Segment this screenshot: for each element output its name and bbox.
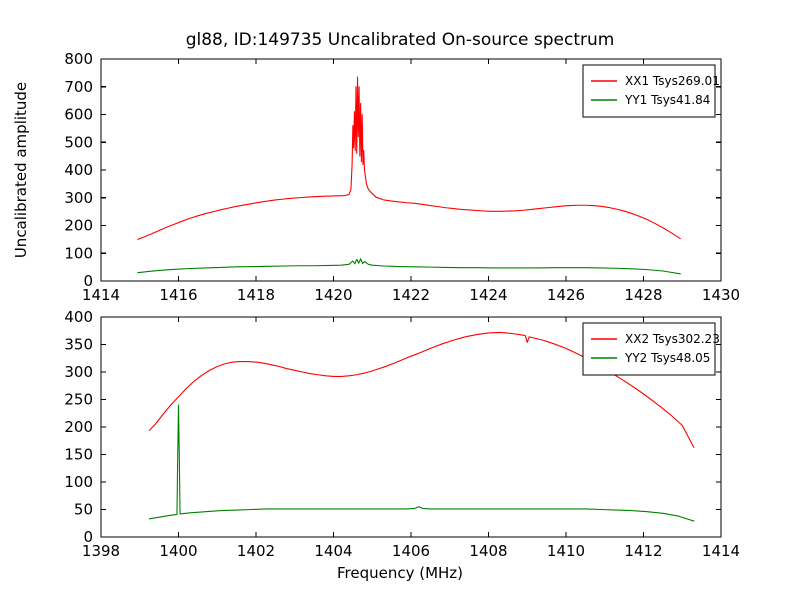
legend-top: XX1 Tsys269.01YY1 Tsys41.84: [583, 65, 720, 117]
x-tick-label: 1426: [547, 286, 585, 304]
x-tick-label: 1402: [237, 542, 275, 560]
x-tick-label: 1420: [314, 286, 352, 304]
y-tick-label: 800: [64, 50, 93, 68]
x-axis-label: Frequency (MHz): [337, 564, 463, 582]
y-tick-label: 300: [64, 189, 93, 207]
figure-canvas: gl88, ID:149735 Uncalibrated On-source s…: [0, 0, 800, 600]
x-tick-label: 1410: [547, 542, 585, 560]
x-tick-label: 1404: [314, 542, 352, 560]
x-tick-label: 1416: [159, 286, 197, 304]
x-tick-label: 1414: [702, 542, 740, 560]
y-tick-label: 0: [83, 528, 93, 546]
legend-label: XX1 Tsys269.01: [625, 74, 720, 88]
y-tick-label: 200: [64, 418, 93, 436]
page-title: gl88, ID:149735 Uncalibrated On-source s…: [186, 30, 615, 50]
x-tick-label: 1406: [392, 542, 430, 560]
y-tick-label: 150: [64, 446, 93, 464]
y-tick-label: 400: [64, 161, 93, 179]
x-tick-label: 1422: [392, 286, 430, 304]
y-tick-label: 50: [74, 501, 93, 519]
x-tick-label: 1428: [624, 286, 662, 304]
y-tick-label: 0: [83, 272, 93, 290]
y-tick-label: 500: [64, 133, 93, 151]
y-tick-label: 700: [64, 78, 93, 96]
legend-label: YY1 Tsys41.84: [624, 93, 710, 107]
y-tick-label: 350: [64, 336, 93, 354]
x-tick-label: 1424: [469, 286, 507, 304]
legend-label: XX2 Tsys302.23: [625, 332, 720, 346]
x-tick-label: 1412: [624, 542, 662, 560]
y-tick-label: 400: [64, 308, 93, 326]
x-tick-label: 1408: [469, 542, 507, 560]
y-tick-label: 100: [64, 473, 93, 491]
y-tick-label: 200: [64, 217, 93, 235]
x-tick-label: 1430: [702, 286, 740, 304]
y-tick-label: 250: [64, 391, 93, 409]
y-tick-label: 600: [64, 106, 93, 124]
y-tick-label: 100: [64, 244, 93, 262]
x-tick-label: 1418: [237, 286, 275, 304]
x-tick-label: 1400: [159, 542, 197, 560]
y-axis-label: Uncalibrated amplitude: [12, 82, 30, 258]
legend-label: YY2 Tsys48.05: [624, 351, 710, 365]
spectrum-figure: gl88, ID:149735 Uncalibrated On-source s…: [0, 0, 800, 600]
legend-bottom: XX2 Tsys302.23YY2 Tsys48.05: [583, 323, 720, 375]
y-tick-label: 300: [64, 363, 93, 381]
